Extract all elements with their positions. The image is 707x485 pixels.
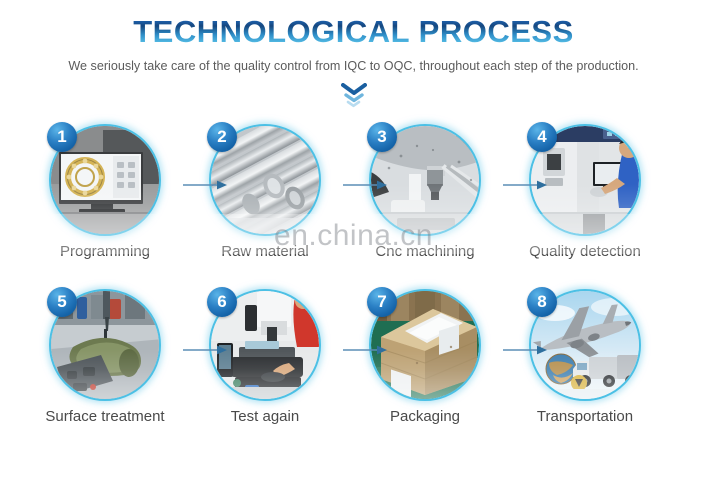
step-number-badge: 2 [207,122,237,152]
step-label: Test again [185,408,345,425]
chevron-stack [0,83,707,108]
arrow-right-icon [343,345,391,355]
header: TECHNOLOGICAL PROCESS We seriously take … [0,0,707,73]
step-circle-5[interactable]: 5 [49,289,161,401]
step-label: Transportation [505,408,665,425]
arrow-right-icon [503,180,551,190]
step-label: Programming [25,243,185,260]
step-label: Quality detection [505,243,665,260]
page-subtitle: We seriously take care of the quality co… [0,50,707,73]
step-number-badge: 7 [367,287,397,317]
arrow-right-icon [343,180,391,190]
step-number-badge: 1 [47,122,77,152]
process-steps: 1 Programming [0,118,707,448]
step-label: Cnc machining [345,243,505,260]
step-number-badge: 8 [527,287,557,317]
step-label: Raw material [185,243,345,260]
arrow-right-icon [183,180,231,190]
step-number-badge: 3 [367,122,397,152]
step-number-badge: 6 [207,287,237,317]
step-1[interactable]: 1 Programming [25,118,185,260]
step-number-badge: 5 [47,287,77,317]
arrow-right-icon [503,345,551,355]
page-title: TECHNOLOGICAL PROCESS [0,0,707,50]
process-row-1: 1 Programming [0,118,707,283]
step-number-badge: 4 [527,122,557,152]
step-label: Surface treatment [25,408,185,425]
step-circle-1[interactable]: 1 [49,124,161,236]
step-label: Packaging [345,408,505,425]
process-row-2: 5 Surface treatment [0,283,707,448]
step-5[interactable]: 5 Surface treatment [25,283,185,425]
arrow-right-icon [183,345,231,355]
infographic-page: TECHNOLOGICAL PROCESS We seriously take … [0,0,707,485]
